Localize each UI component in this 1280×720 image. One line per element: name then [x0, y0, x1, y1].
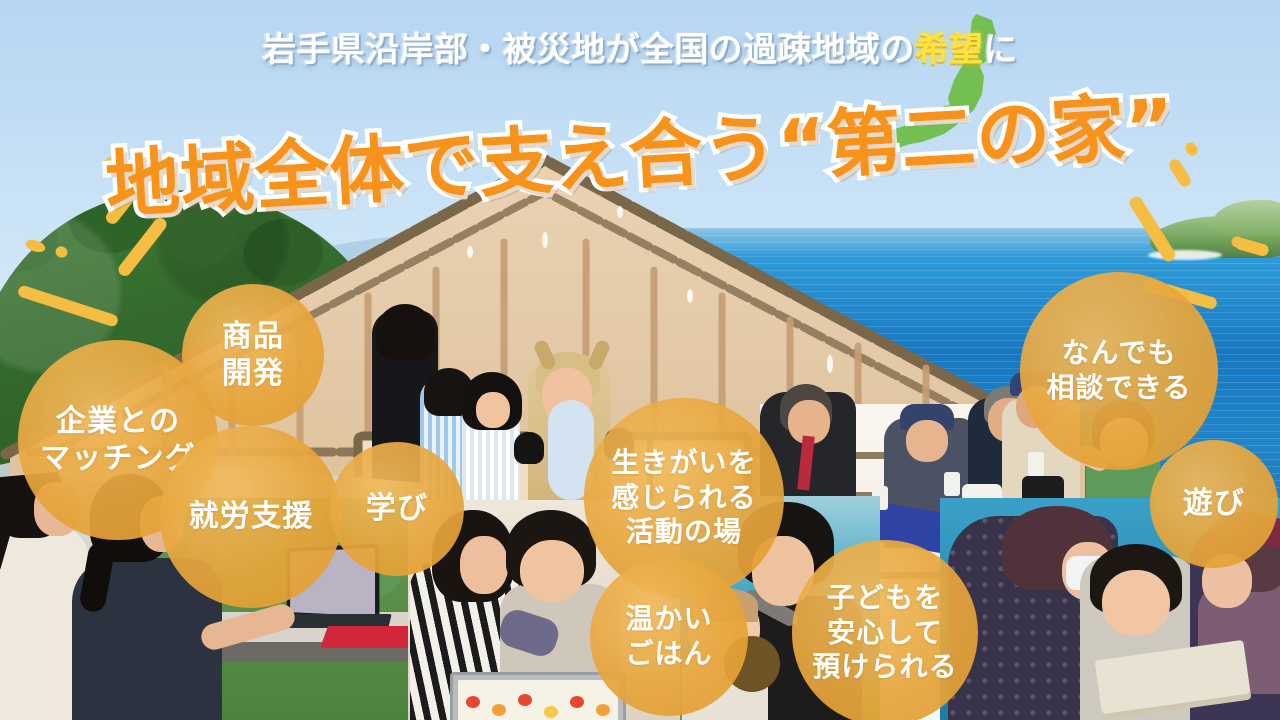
bubble-label: 子どもを 安心して 預けられる [812, 581, 958, 685]
bubble-consult: なんでも 相談できる [1020, 272, 1218, 470]
bubble-product: 商品 開発 [182, 284, 324, 426]
bubble-label: なんでも 相談できる [1046, 336, 1191, 405]
bubble-childcare: 子どもを 安心して 預けられる [792, 540, 978, 720]
bubble-warm-meal: 温かい ごはん [590, 558, 748, 716]
bubble-label: 遊び [1183, 485, 1245, 522]
poster-canvas: 企業との マッチング商品 開発就労支援学び生きがいを 感じられる 活動の場温かい… [0, 0, 1280, 720]
bubble-label: 商品 開発 [222, 318, 284, 392]
bubble-learning: 学び [330, 442, 464, 576]
bubble-label: 企業との マッチング [40, 403, 196, 477]
bubble-employment: 就労支援 [160, 426, 342, 608]
bubble-label: 学び [366, 490, 428, 527]
bubble-play: 遊び [1150, 440, 1278, 568]
page-subtitle: 岩手県沿岸部・被災地が全国の過疎地域の希望に [0, 22, 1280, 71]
subtitle-highlight: 希望 [915, 30, 984, 70]
bubble-label: 就労支援 [189, 498, 314, 535]
subtitle-pre: 岩手県沿岸部・被災地が全国の過疎地域の [262, 30, 914, 70]
bubble-label: 温かい ごはん [625, 602, 712, 671]
subtitle-post: に [983, 30, 1017, 70]
bubble-label: 生きがいを 感じられる 活動の場 [611, 446, 757, 550]
